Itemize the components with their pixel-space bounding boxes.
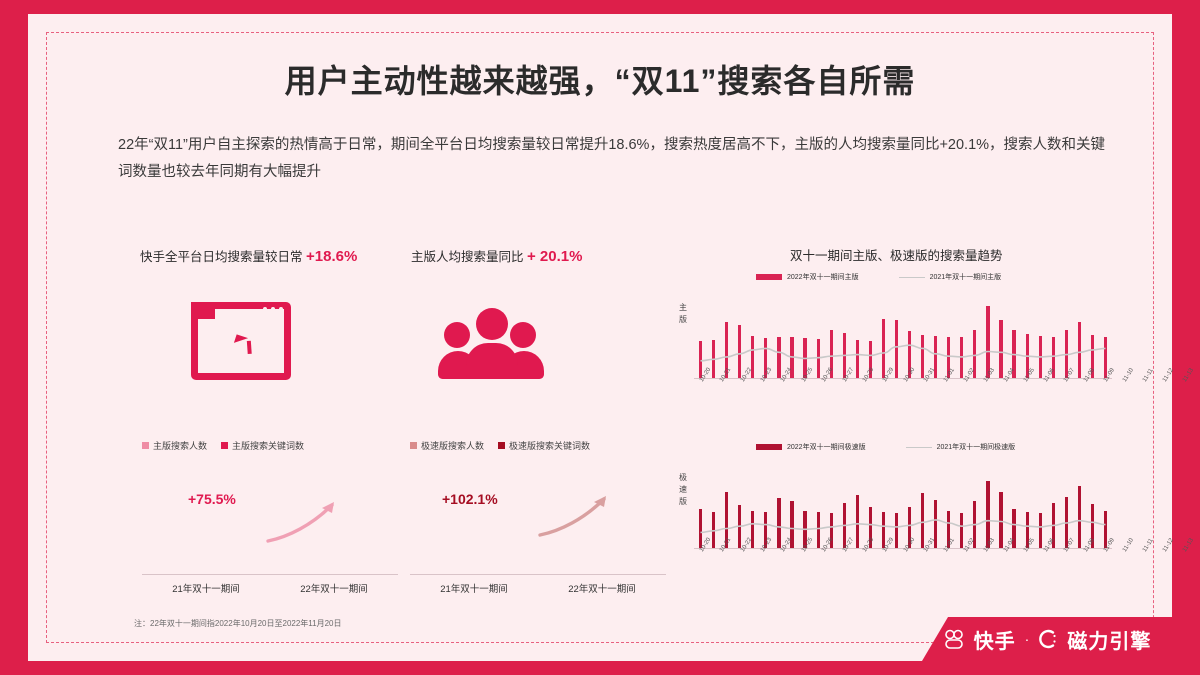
chart-main-version-trend: 2022年双十一期间主版 2021年双十一期间主版 主版 10-2010-211… [676, 272, 1116, 412]
xtick-label: 11-13 [1182, 367, 1195, 383]
chart-a-xlabels: 21年双十一期间 22年双十一期间 [142, 581, 398, 595]
legend-label: 主版搜索人数 [153, 439, 207, 452]
trend-bottom-axis-label: 极速版 [676, 472, 690, 508]
stat-value-1: +18.6% [306, 248, 357, 265]
stat-label-2: 主版人均搜索量同比 [411, 250, 524, 264]
xtick-label: 11-12 [1162, 537, 1175, 553]
trend-bottom-xlabels: 10-2010-2110-2210-2310-2410-2510-2610-27… [694, 550, 1112, 556]
legend-item: 2021年双十一期间极速版 [906, 442, 1016, 452]
slide-root: 用户主动性越来越强，“双11”搜索各自所需 22年“双11”用户自主探索的热情高… [0, 0, 1200, 675]
legend-item: 2022年双十一期间主版 [756, 272, 859, 282]
stat-label-1: 快手全平台日均搜索量较日常 [140, 250, 303, 264]
chart-b-xlabels: 21年双十一期间 22年双十一期间 [410, 581, 666, 595]
chart-b-legend: 极速版搜索人数 极速版搜索关键词数 [396, 439, 676, 452]
trend-chart-title: 双十一期间主版、极速版的搜索量趋势 [790, 245, 1003, 264]
chart-main-version-bars: 主版搜索人数 主版搜索关键词数 [128, 439, 408, 599]
xtick-label: 22年双十一期间 [538, 581, 666, 595]
legend-item: 2021年双十一期间主版 [899, 272, 1002, 282]
trend-top-line [694, 300, 1112, 378]
browser-titlebar [191, 302, 215, 319]
stat-value-2: + 20.1% [527, 248, 582, 265]
chart-a-growth-label: +75.5% [188, 491, 236, 507]
legend-label: 2022年双十一期间主版 [787, 272, 859, 282]
person-center-icon [466, 308, 518, 379]
legend-item: 2022年双十一期间极速版 [756, 442, 866, 452]
trend-bottom-legend: 2022年双十一期间极速版 2021年双十一期间极速版 [756, 442, 1015, 452]
growth-arrow-icon [266, 499, 340, 545]
chart-b-axis [410, 574, 666, 575]
trend-top-plot [694, 300, 1112, 378]
legend-label: 2021年双十一期间主版 [930, 272, 1002, 282]
page-subtitle: 22年“双11”用户自主探索的热情高于日常，期间全平台日均搜索量较日常提升18.… [118, 132, 1118, 186]
browser-dots [263, 307, 283, 311]
cilijiqing-logo-icon [1038, 629, 1058, 649]
chart-lite-version-trend: 2022年双十一期间极速版 2021年双十一期间极速版 极速版 10-2010-… [676, 442, 1116, 582]
xtick-label: 11-13 [1182, 537, 1195, 553]
trend-bottom-line [694, 470, 1112, 548]
brand-name-1: 快手 [974, 625, 1016, 654]
browser-search-icon [191, 302, 291, 380]
page-title: 用户主动性越来越强，“双11”搜索各自所需 [28, 56, 1172, 102]
stat-header-1: 快手全平台日均搜索量较日常 +18.6% [140, 246, 357, 265]
stat-header-2: 主版人均搜索量同比 + 20.1% [411, 246, 582, 265]
trend-bottom-plot [694, 470, 1112, 548]
chart-a-legend: 主版搜索人数 主版搜索关键词数 [128, 439, 408, 452]
xtick-label: 21年双十一期间 [142, 581, 270, 595]
trend-top-legend: 2022年双十一期间主版 2021年双十一期间主版 [756, 272, 1001, 282]
legend-item: 主版搜索关键词数 [221, 439, 304, 452]
legend-label: 2022年双十一期间极速版 [787, 442, 866, 452]
chart-a-plot: +75.5% [142, 465, 398, 575]
legend-item: 极速版搜索关键词数 [498, 439, 590, 452]
growth-arrow-icon [538, 493, 612, 539]
brand-name-2: 磁力引擎 [1067, 625, 1151, 654]
legend-label: 极速版搜索关键词数 [509, 439, 590, 452]
footnote: 注：22年双十一期间指2022年10月20日至2022年11月20日 [134, 618, 342, 629]
xtick-label: 11-11 [1142, 368, 1155, 383]
slide-card: 用户主动性越来越强，“双11”搜索各自所需 22年“双11”用户自主探索的热情高… [28, 14, 1172, 661]
people-group-icon [438, 306, 548, 378]
xtick-label: 22年双十一期间 [270, 581, 398, 595]
xtick-label: 11-10 [1122, 537, 1135, 553]
chart-b-growth-label: +102.1% [442, 491, 498, 507]
footer-brand-logo: 快手 · 磁力引擎 [922, 617, 1172, 661]
chart-b-plot: +102.1% [410, 465, 666, 575]
chart-lite-version-bars: 极速版搜索人数 极速版搜索关键词数 [396, 439, 676, 599]
legend-item: 主版搜索人数 [142, 439, 207, 452]
xtick-label: 21年双十一期间 [410, 581, 538, 595]
kuaishou-logo-icon [943, 629, 965, 649]
xtick-label: 11-12 [1162, 367, 1175, 383]
legend-item: 极速版搜索人数 [410, 439, 484, 452]
trend-top-axis-label: 主版 [676, 302, 690, 326]
xtick-label: 11-11 [1142, 538, 1155, 553]
chart-a-axis [142, 574, 398, 575]
trend-top-xlabels: 10-2010-2110-2210-2310-2410-2510-2610-27… [694, 380, 1112, 386]
legend-label: 极速版搜索人数 [421, 439, 484, 452]
legend-label: 主版搜索关键词数 [232, 439, 304, 452]
brand-separator: · [1025, 631, 1030, 647]
legend-label: 2021年双十一期间极速版 [937, 442, 1016, 452]
xtick-label: 11-10 [1122, 367, 1135, 383]
